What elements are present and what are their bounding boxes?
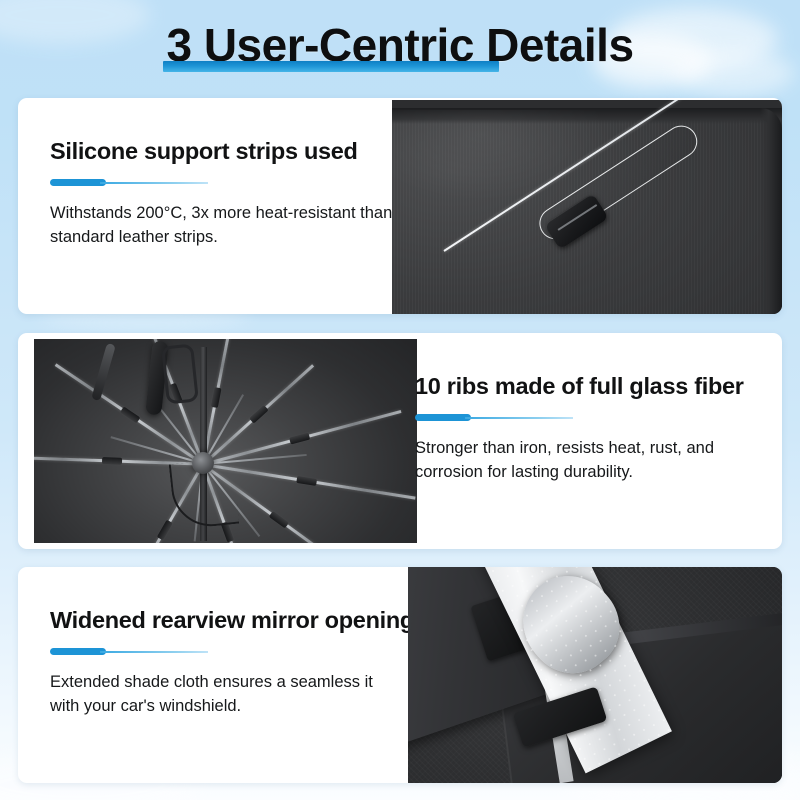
title-underline-bar <box>163 61 499 72</box>
page-header: 3 User-Centric Details <box>0 0 800 96</box>
feature-card-1: Silicone support strips used Withstands … <box>18 98 782 314</box>
infographic-page: 3 User-Centric Details Silicone support … <box>0 0 800 800</box>
divider-thin-segment <box>100 182 208 184</box>
feature-card-2-text: 10 ribs made of full glass fiber Stronge… <box>415 333 775 549</box>
feature-card-3-divider <box>50 647 208 656</box>
umbrella-handle-loop <box>161 343 199 404</box>
feature-card-1-heading: Silicone support strips used <box>50 139 358 165</box>
feature-card-3-body: Extended shade cloth ensures a seamless … <box>50 671 400 719</box>
divider-thick-segment <box>50 648 106 655</box>
feature-card-1-text: Silicone support strips used Withstands … <box>50 98 400 314</box>
feature-card-2-heading: 10 ribs made of full glass fiber <box>415 374 744 400</box>
umbrella-shaft-upper <box>200 347 207 465</box>
feature-card-2-body: Stronger than iron, resists heat, rust, … <box>415 437 775 485</box>
divider-thick-segment <box>415 414 471 421</box>
umbrella-center-hub <box>192 452 214 474</box>
feature-card-1-body: Withstands 200°C, 3x more heat-resistant… <box>50 202 400 250</box>
feature-card-3-text: Widened rearview mirror opening Extended… <box>50 567 400 783</box>
feature-card-2-divider <box>415 413 573 422</box>
feature-card-1-divider <box>50 178 208 187</box>
divider-thick-segment <box>50 179 106 186</box>
feature-card-2: 10 ribs made of full glass fiber Stronge… <box>18 333 782 549</box>
sunshade-right-edge <box>760 108 782 314</box>
feature-card-1-photo <box>392 100 782 314</box>
feature-card-3: Widened rearview mirror opening Extended… <box>18 567 782 783</box>
feature-card-3-heading: Widened rearview mirror opening <box>50 608 414 634</box>
feature-card-2-photo <box>34 339 417 543</box>
divider-thin-segment <box>465 417 573 419</box>
feature-card-3-photo <box>408 567 782 783</box>
divider-thin-segment <box>100 651 208 653</box>
